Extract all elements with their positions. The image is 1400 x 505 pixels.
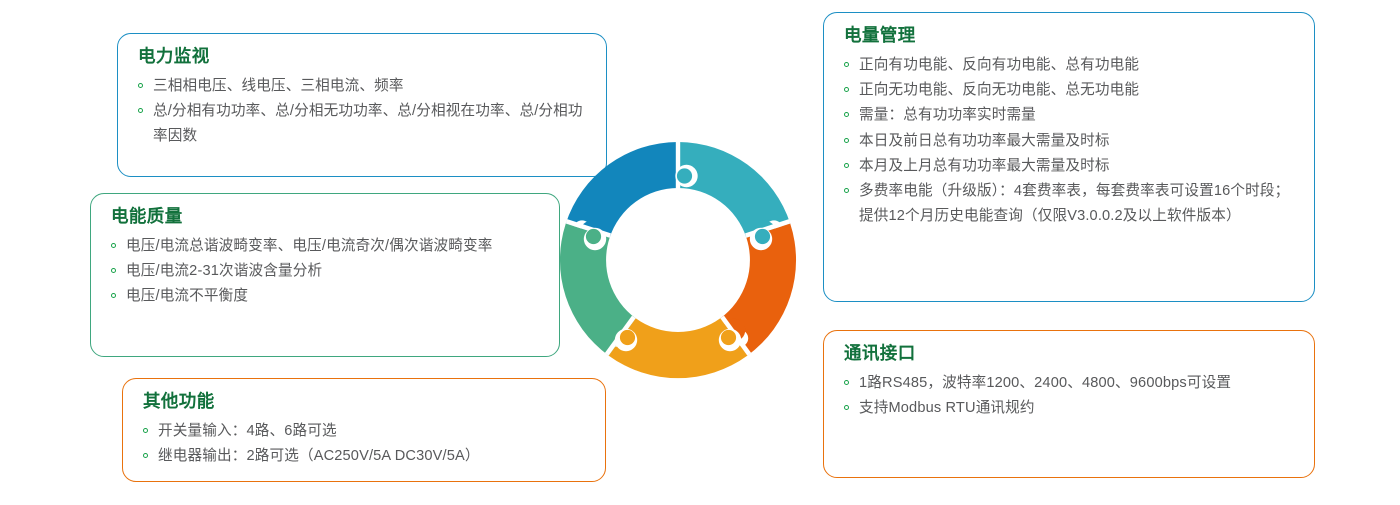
list-item: 本月及上月总有功功率最大需量及时标 bbox=[844, 154, 1296, 179]
list-item: 本日及前日总有功功率最大需量及时标 bbox=[844, 129, 1296, 154]
list-item: 1路RS485，波特率1200、2400、4800、9600bps可设置 bbox=[844, 371, 1296, 396]
list-item: 开关量输入：4路、6路可选 bbox=[143, 419, 587, 444]
list-item-text: 电压/电流不平衡度 bbox=[126, 284, 541, 309]
list-item-text: 需量：总有功功率实时需量 bbox=[859, 103, 1296, 128]
bullet-ring-icon bbox=[138, 83, 143, 88]
list-item: 总/分相有功功率、总/分相无功功率、总/分相视在功率、总/分相功率因数 bbox=[138, 99, 588, 149]
bullet-ring-icon bbox=[844, 87, 849, 92]
list-item-text: 支持Modbus RTU通讯规约 bbox=[859, 396, 1296, 421]
list-item-text: 1路RS485，波特率1200、2400、4800、9600bps可设置 bbox=[859, 371, 1296, 396]
list-item-text: 开关量输入：4路、6路可选 bbox=[158, 419, 587, 444]
bullet-ring-icon bbox=[111, 293, 116, 298]
bullet-list-energy-management: 正向有功电能、反向有功电能、总有功电能 正向无功电能、反向无功电能、总无功电能 … bbox=[844, 53, 1296, 230]
card-title-power-monitoring: 电力监视 bbox=[138, 46, 588, 68]
bullet-ring-icon bbox=[844, 380, 849, 385]
list-item-text: 继电器输出：2路可选（AC250V/5A DC30V/5A） bbox=[158, 444, 587, 469]
bullet-ring-icon bbox=[111, 268, 116, 273]
bullet-ring-icon bbox=[143, 428, 148, 433]
card-title-energy-management: 电量管理 bbox=[844, 25, 1296, 47]
list-item-text: 三相相电压、线电压、三相电流、频率 bbox=[153, 74, 588, 99]
list-item: 电压/电流不平衡度 bbox=[111, 284, 541, 309]
bullet-ring-icon bbox=[844, 163, 849, 168]
bullet-list-power-quality: 电压/电流总谐波畸变率、电压/电流奇次/偶次谐波畸变率 电压/电流2-31次谐波… bbox=[111, 234, 541, 310]
bullet-ring-icon bbox=[111, 243, 116, 248]
list-item: 正向无功电能、反向无功电能、总无功电能 bbox=[844, 78, 1296, 103]
list-item: 需量：总有功功率实时需量 bbox=[844, 103, 1296, 128]
list-item: 电压/电流总谐波畸变率、电压/电流奇次/偶次谐波畸变率 bbox=[111, 234, 541, 259]
card-power-quality: 电能质量 电压/电流总谐波畸变率、电压/电流奇次/偶次谐波畸变率 电压/电流2-… bbox=[90, 193, 560, 357]
card-title-other-functions: 其他功能 bbox=[143, 391, 587, 413]
list-item: 多费率电能（升级版）：4套费率表，每套费率表可设置16个时段；提供12个月历史电… bbox=[844, 179, 1296, 229]
puzzle-donut-diagram bbox=[533, 134, 823, 386]
infographic-canvas: 电力监视 三相相电压、线电压、三相电流、频率 总/分相有功功率、总/分相无功功率… bbox=[0, 0, 1400, 505]
bullet-ring-icon bbox=[844, 405, 849, 410]
bullet-ring-icon bbox=[844, 138, 849, 143]
list-item-text: 本日及前日总有功功率最大需量及时标 bbox=[859, 129, 1296, 154]
list-item-text: 本月及上月总有功功率最大需量及时标 bbox=[859, 154, 1296, 179]
bullet-list-other-functions: 开关量输入：4路、6路可选 继电器输出：2路可选（AC250V/5A DC30V… bbox=[143, 419, 587, 469]
list-item-text: 电压/电流总谐波畸变率、电压/电流奇次/偶次谐波畸变率 bbox=[126, 234, 541, 259]
card-title-power-quality: 电能质量 bbox=[111, 206, 541, 228]
puzzle-donut-svg bbox=[533, 134, 823, 386]
card-other-functions: 其他功能 开关量输入：4路、6路可选 继电器输出：2路可选（AC250V/5A … bbox=[122, 378, 606, 482]
card-title-comm-interface: 通讯接口 bbox=[844, 343, 1296, 365]
card-energy-management: 电量管理 正向有功电能、反向有功电能、总有功电能 正向无功电能、反向无功电能、总… bbox=[823, 12, 1315, 302]
list-item-text: 电压/电流2-31次谐波含量分析 bbox=[126, 259, 541, 284]
bullet-ring-icon bbox=[844, 112, 849, 117]
list-item-text: 多费率电能（升级版）：4套费率表，每套费率表可设置16个时段；提供12个月历史电… bbox=[859, 179, 1296, 229]
card-comm-interface: 通讯接口 1路RS485，波特率1200、2400、4800、9600bps可设… bbox=[823, 330, 1315, 478]
list-item: 继电器输出：2路可选（AC250V/5A DC30V/5A） bbox=[143, 444, 587, 469]
bullet-list-comm-interface: 1路RS485，波特率1200、2400、4800、9600bps可设置 支持M… bbox=[844, 371, 1296, 421]
list-item: 三相相电压、线电压、三相电流、频率 bbox=[138, 74, 588, 99]
bullet-ring-icon bbox=[844, 62, 849, 67]
bullet-ring-icon bbox=[138, 108, 143, 113]
bullet-ring-icon bbox=[844, 188, 849, 193]
list-item-text: 正向无功电能、反向无功电能、总无功电能 bbox=[859, 78, 1296, 103]
list-item: 支持Modbus RTU通讯规约 bbox=[844, 396, 1296, 421]
ring-inner-hole bbox=[607, 189, 749, 331]
list-item-text: 总/分相有功功率、总/分相无功功率、总/分相视在功率、总/分相功率因数 bbox=[153, 99, 588, 149]
bullet-ring-icon bbox=[143, 453, 148, 458]
list-item-text: 正向有功电能、反向有功电能、总有功电能 bbox=[859, 53, 1296, 78]
bullet-list-power-monitoring: 三相相电压、线电压、三相电流、频率 总/分相有功功率、总/分相无功功率、总/分相… bbox=[138, 74, 588, 150]
list-item: 电压/电流2-31次谐波含量分析 bbox=[111, 259, 541, 284]
list-item: 正向有功电能、反向有功电能、总有功电能 bbox=[844, 53, 1296, 78]
